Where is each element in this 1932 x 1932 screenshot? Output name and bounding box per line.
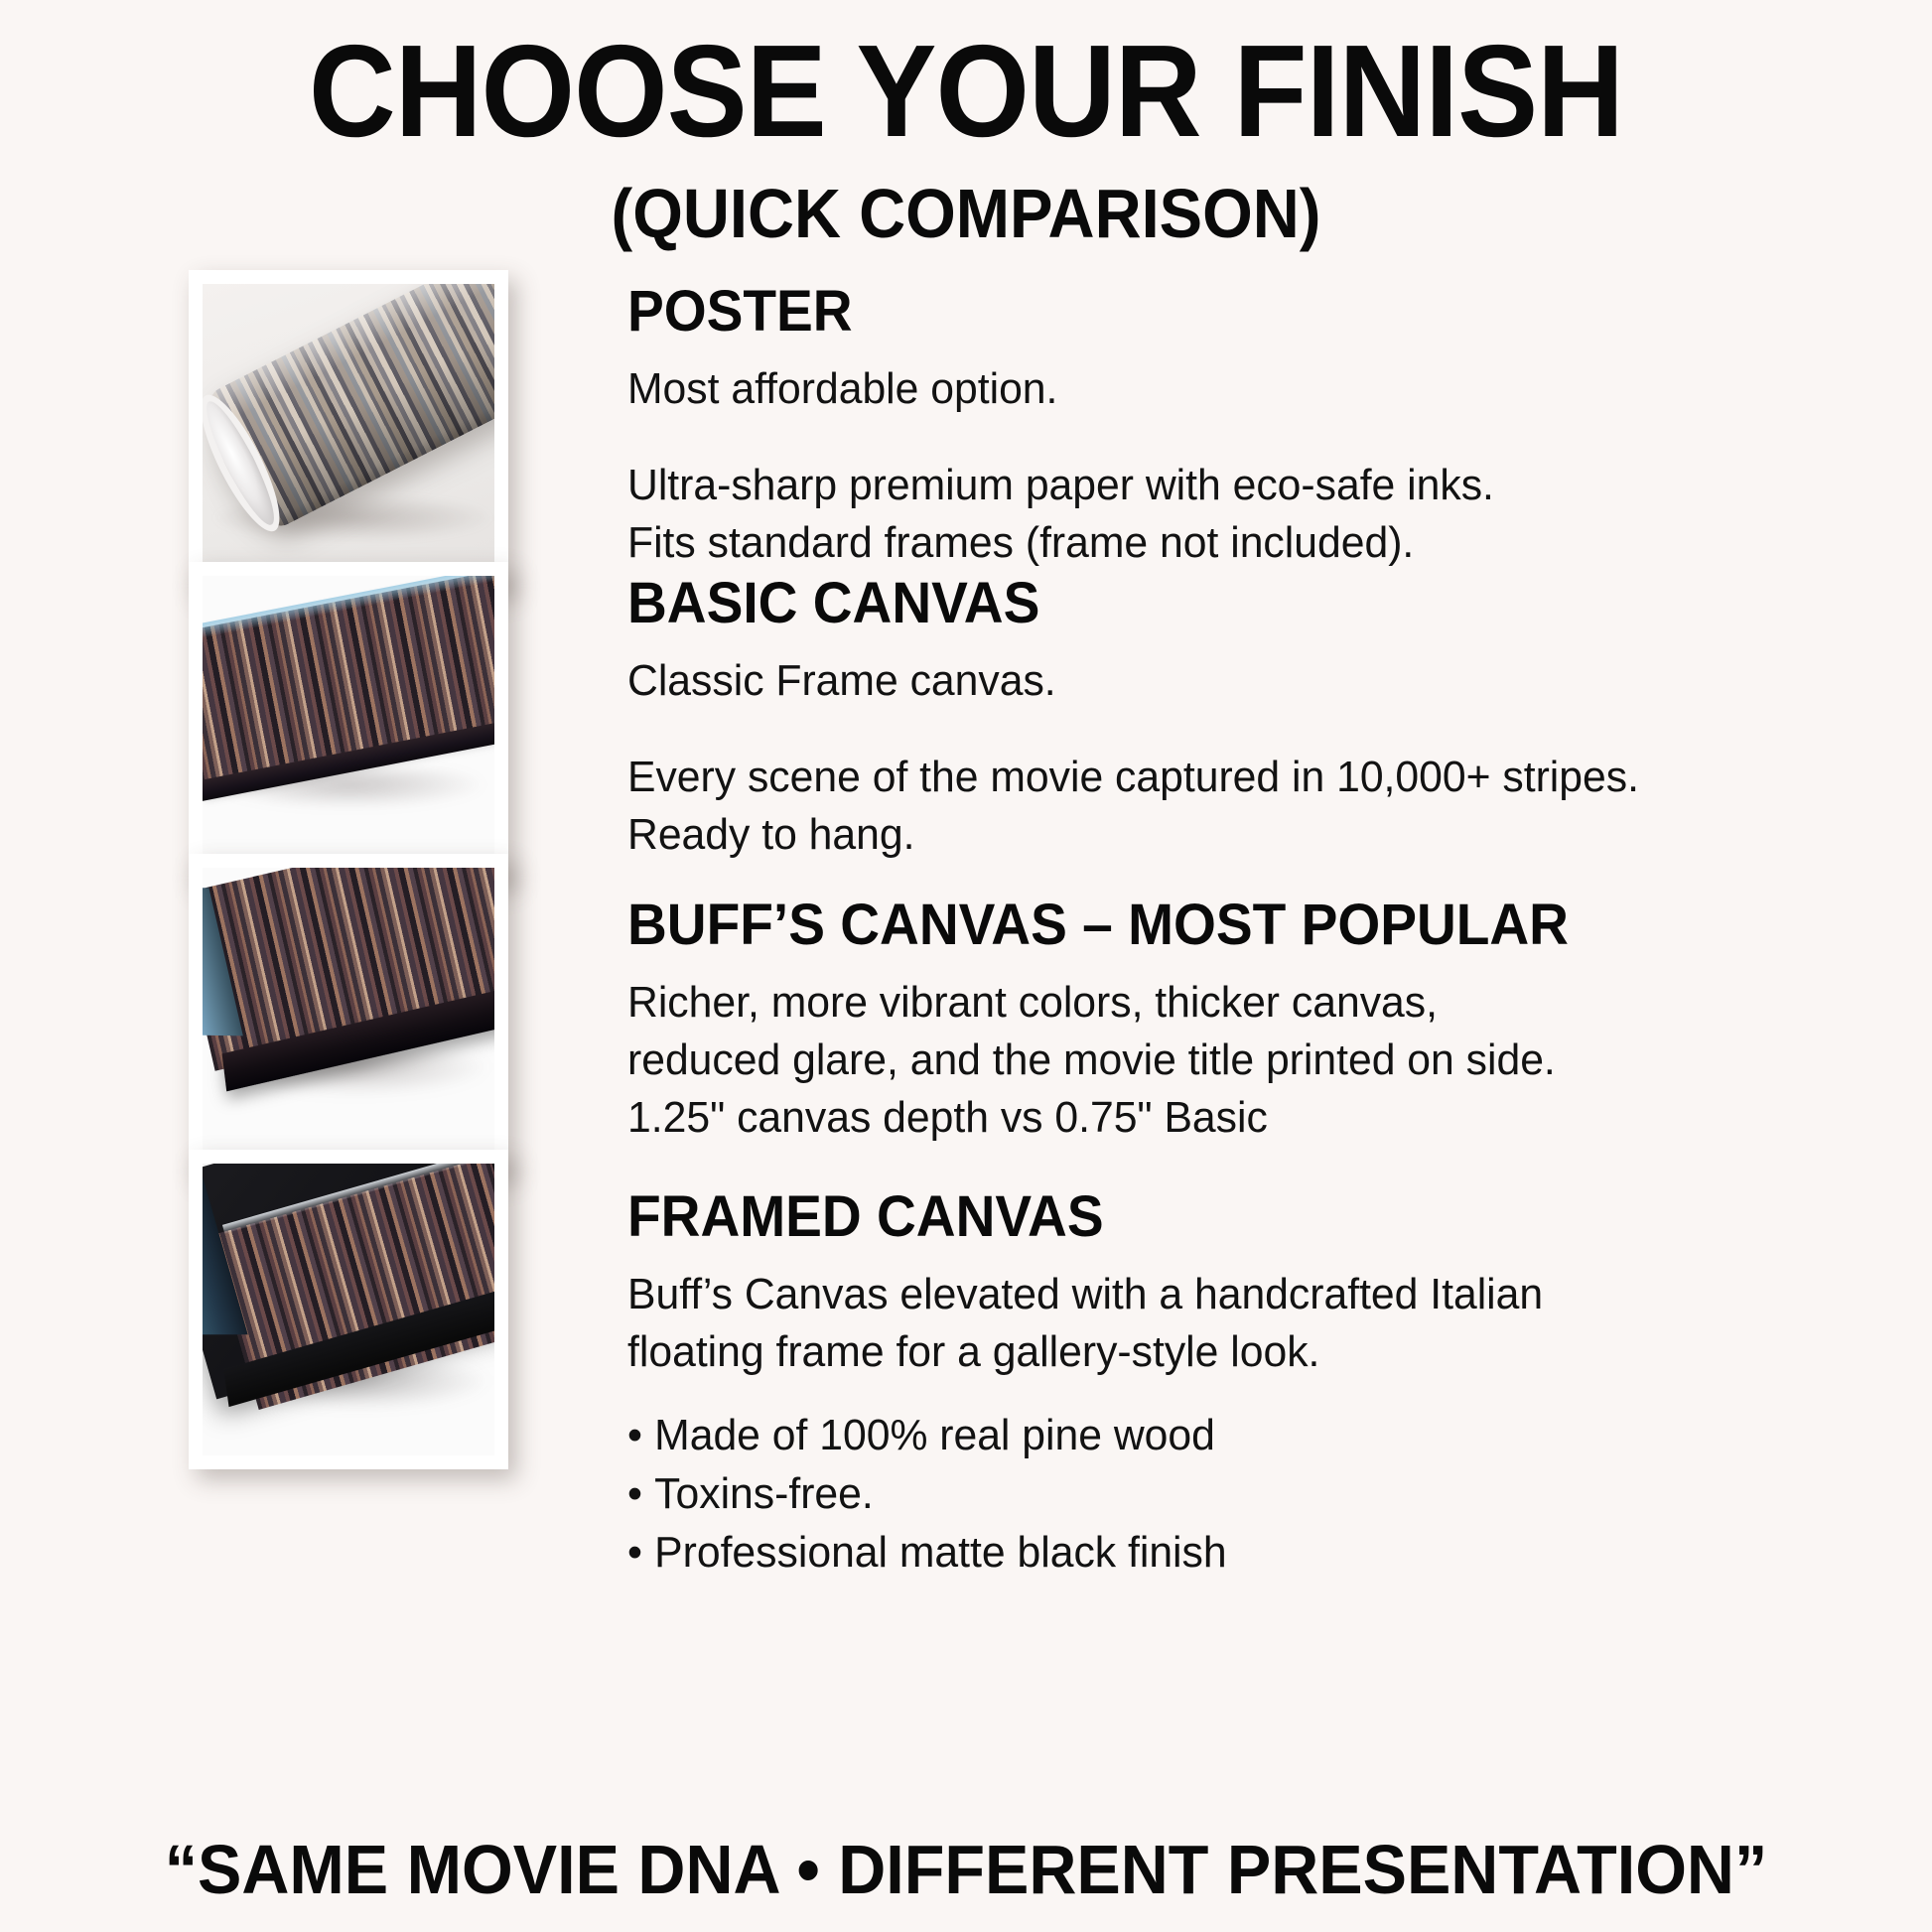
page-title: CHOOSE YOUR FINISH [77, 26, 1855, 157]
option-text-poster: POSTER Most affordable option. Ultra-sha… [627, 270, 1932, 572]
option-text-framed-canvas: FRAMED CANVAS Buff’s Canvas elevated wit… [627, 1150, 1932, 1583]
option-row-poster: POSTER Most affordable option. Ultra-sha… [0, 270, 1932, 590]
footer-tagline: “SAME MOVIE DNA • DIFFERENT PRESENTATION… [49, 1835, 1884, 1904]
detail-line: Ultra-sharp premium paper with eco-safe … [627, 457, 1893, 514]
option-row-framed-canvas: FRAMED CANVAS Buff’s Canvas elevated wit… [0, 1150, 1932, 1583]
product-image-framed-canvas [189, 1150, 508, 1469]
option-details-buffs-canvas: Richer, more vibrant colors, thicker can… [627, 974, 1893, 1147]
framed-canvas-scene [203, 1164, 494, 1455]
list-item: Professional matte black finish [627, 1524, 1893, 1583]
detail-line: reduced glare, and the movie title print… [627, 1032, 1893, 1089]
thumbnail-wrap-poster [189, 270, 508, 590]
list-item: Made of 100% real pine wood [627, 1407, 1893, 1465]
framed-canvas-bullet-list: Made of 100% real pine wood Toxins-free.… [627, 1407, 1893, 1583]
page-subtitle: (QUICK COMPARISON) [68, 179, 1864, 248]
buffs-canvas-scene [203, 868, 494, 1160]
infographic-page: CHOOSE YOUR FINISH (QUICK COMPARISON) PO… [0, 0, 1932, 1932]
buffs-canvas-photo [203, 868, 494, 1160]
footer: “SAME MOVIE DNA • DIFFERENT PRESENTATION… [0, 1835, 1932, 1904]
option-details-basic-canvas: Every scene of the movie captured in 10,… [627, 749, 1893, 864]
option-title-buffs-canvas: BUFF’S CANVAS – MOST POPULAR [627, 896, 1866, 956]
framed-canvas-photo [203, 1164, 494, 1455]
option-row-buffs-canvas: BUFF’S CANVAS – MOST POPULAR Richer, mor… [0, 854, 1932, 1173]
thumbnail-wrap-basic-canvas [189, 562, 508, 882]
detail-line: 1.25" canvas depth vs 0.75" Basic [627, 1089, 1893, 1147]
option-lede-poster: Most affordable option. [627, 360, 1893, 417]
option-details-framed-canvas: Buff’s Canvas elevated with a handcrafte… [627, 1266, 1893, 1381]
option-details-poster: Ultra-sharp premium paper with eco-safe … [627, 457, 1893, 572]
poster-scene [203, 284, 494, 576]
detail-line: floating frame for a gallery-style look. [627, 1323, 1893, 1381]
option-title-basic-canvas: BASIC CANVAS [627, 574, 1866, 634]
header: CHOOSE YOUR FINISH (QUICK COMPARISON) [0, 26, 1932, 248]
option-row-basic-canvas: BASIC CANVAS Classic Frame canvas. Every… [0, 562, 1932, 882]
option-lede-basic-canvas: Classic Frame canvas. [627, 652, 1893, 709]
basic-canvas-photo [203, 576, 494, 868]
option-text-buffs-canvas: BUFF’S CANVAS – MOST POPULAR Richer, mor… [627, 854, 1932, 1147]
option-title-framed-canvas: FRAMED CANVAS [627, 1187, 1866, 1248]
detail-line: Every scene of the movie captured in 10,… [627, 749, 1893, 806]
thumbnail-wrap-framed-canvas [189, 1150, 508, 1469]
product-image-basic-canvas [189, 562, 508, 882]
poster-photo [203, 284, 494, 576]
basic-canvas-scene [203, 576, 494, 868]
product-image-poster [189, 270, 508, 590]
list-item: Toxins-free. [627, 1465, 1893, 1524]
option-title-poster: POSTER [627, 282, 1866, 343]
detail-line: Buff’s Canvas elevated with a handcrafte… [627, 1266, 1893, 1323]
product-image-buffs-canvas [189, 854, 508, 1173]
option-text-basic-canvas: BASIC CANVAS Classic Frame canvas. Every… [627, 562, 1932, 864]
detail-line: Richer, more vibrant colors, thicker can… [627, 974, 1893, 1032]
thumbnail-wrap-buffs-canvas [189, 854, 508, 1173]
